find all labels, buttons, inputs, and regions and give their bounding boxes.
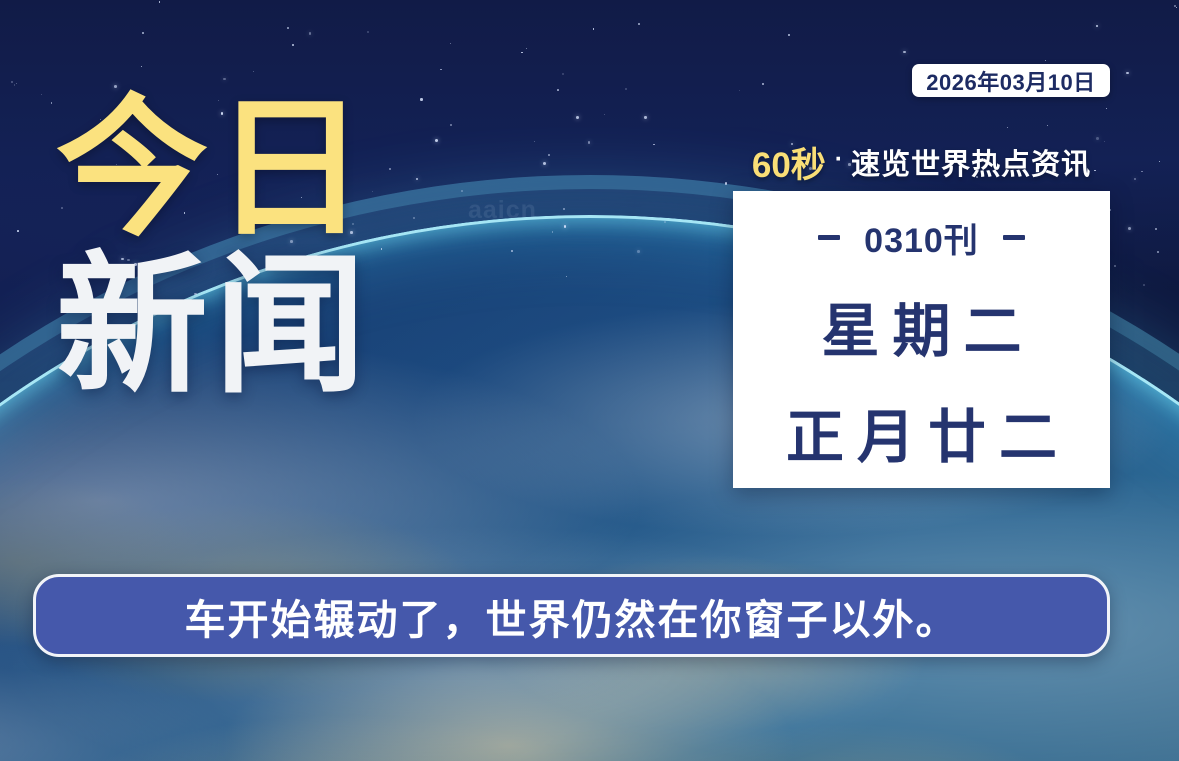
dash-left-icon	[818, 235, 840, 240]
headline-line-2: 新闻	[56, 253, 372, 400]
weekday-label: 星期二	[808, 284, 1034, 368]
date-badge: 2026年03月10日	[912, 64, 1110, 97]
quote-banner: 车开始辗动了，世界仍然在你窗子以外。	[33, 574, 1110, 657]
tagline-separator-dot: ·	[835, 145, 843, 174]
quote-text: 车开始辗动了，世界仍然在你窗子以外。	[185, 586, 959, 646]
headline-line-1: 今日	[56, 96, 372, 243]
issue-number-row: 0310刊	[818, 213, 1025, 262]
tagline: 60秒 · 速览世界热点资讯	[733, 140, 1110, 184]
info-card: 0310刊 星期二 正月廿二	[733, 191, 1110, 488]
dash-right-icon	[1003, 235, 1025, 240]
issue-number: 0310刊	[864, 213, 979, 262]
tagline-seconds: 60秒	[752, 137, 826, 188]
lunar-date-label: 正月廿二	[773, 390, 1070, 474]
tagline-description: 速览世界热点资讯	[851, 141, 1091, 183]
news-poster: aaicn 今日 新闻 2026年03月10日 60秒 · 速览世界热点资讯 0…	[0, 0, 1179, 761]
page-title: 今日 新闻	[56, 96, 372, 401]
watermark-text: aaicn	[468, 196, 537, 225]
